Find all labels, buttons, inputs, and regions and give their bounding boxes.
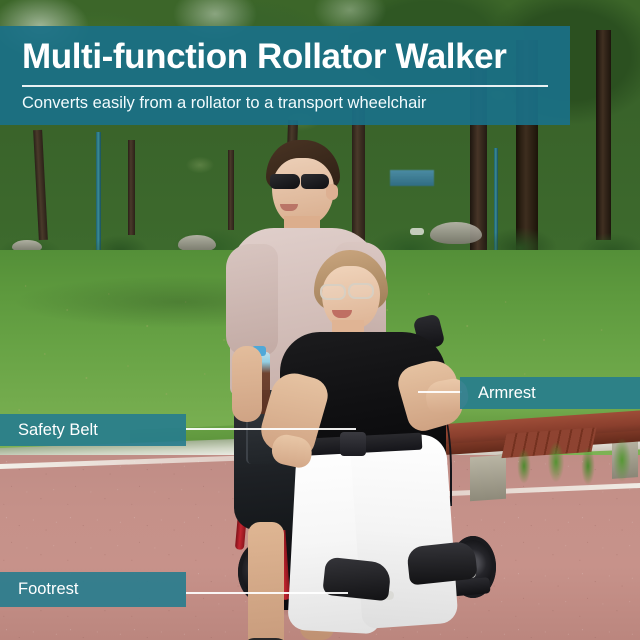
leader-line-armrest <box>418 391 462 393</box>
caregiver-arm <box>232 346 262 422</box>
page-title: Multi-function Rollator Walker <box>22 38 548 76</box>
caregiver-face <box>272 158 334 224</box>
title-banner: Multi-function Rollator Walker Converts … <box>0 26 570 125</box>
leader-line-footrest <box>186 592 348 594</box>
caregiver-sleeve <box>226 244 278 356</box>
banner-divider <box>22 85 548 87</box>
distant-object <box>410 228 424 235</box>
distant-structure <box>390 170 434 186</box>
eyeglasses-icon <box>320 284 346 300</box>
sunglasses-icon <box>270 174 336 190</box>
tall-grass <box>510 436 640 494</box>
user-shoe <box>406 541 478 586</box>
callout-label: Safety Belt <box>18 421 98 440</box>
callout-label: Footrest <box>18 580 79 599</box>
product-feature-image: Multi-function Rollator Walker Converts … <box>0 0 640 640</box>
banner-subtitle: Converts easily from a rollator to a tra… <box>22 94 548 113</box>
user-white-pants <box>349 433 458 629</box>
leader-line-safety-belt <box>186 428 356 430</box>
seated-user-figure <box>278 250 478 640</box>
callout-label: Armrest <box>478 384 536 403</box>
callout-safety-belt: Safety Belt <box>0 414 186 446</box>
eyeglasses-icon <box>348 283 374 299</box>
safety-belt-buckle <box>340 432 366 456</box>
callout-armrest: Armrest <box>460 377 640 409</box>
rock <box>430 222 482 244</box>
callout-footrest: Footrest <box>0 572 186 607</box>
